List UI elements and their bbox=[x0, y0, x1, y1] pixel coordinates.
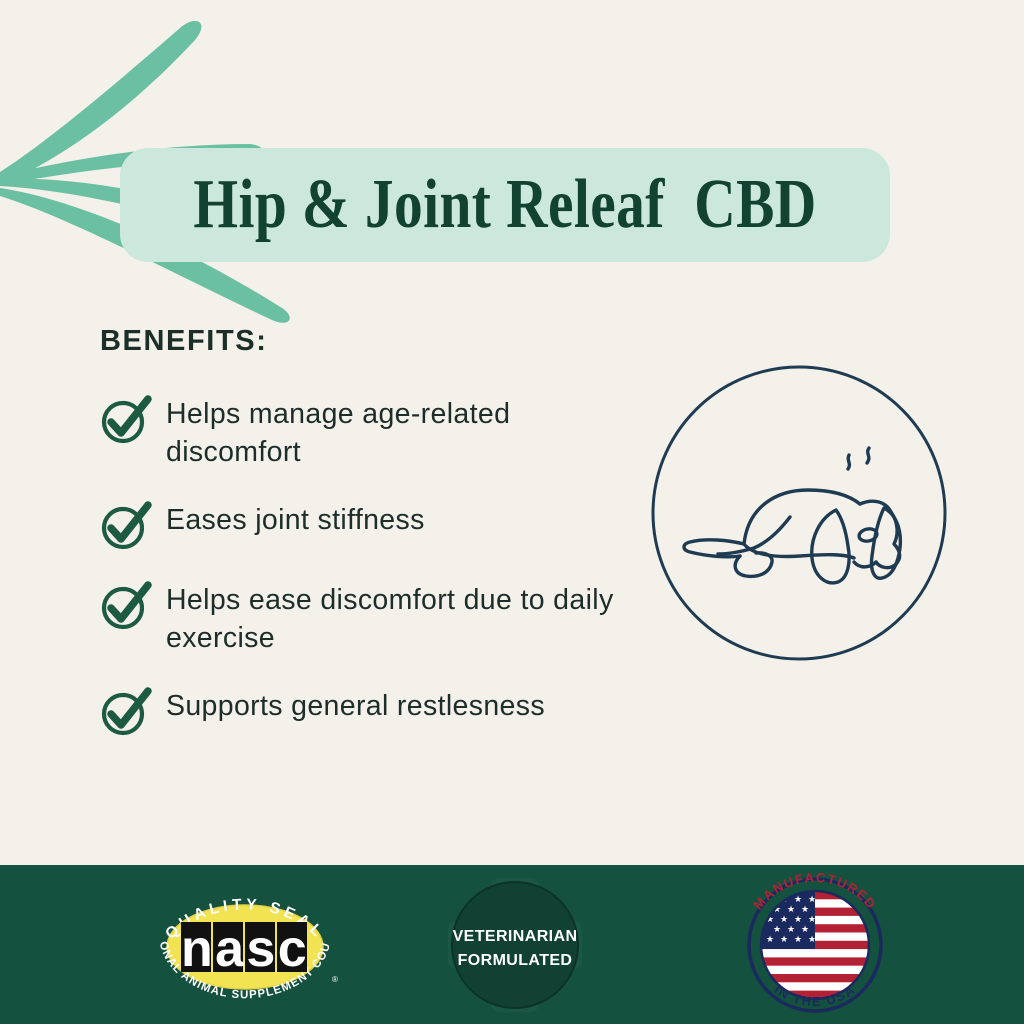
svg-text:★: ★ bbox=[808, 894, 816, 904]
list-item: Helps manage age-related discomfort bbox=[98, 392, 638, 472]
svg-text:★: ★ bbox=[773, 924, 781, 934]
list-item: Helps ease discomfort due to daily exerc… bbox=[98, 578, 638, 658]
svg-text:★: ★ bbox=[787, 924, 795, 934]
svg-text:★: ★ bbox=[780, 914, 788, 924]
check-circle-icon bbox=[98, 394, 152, 446]
svg-text:★: ★ bbox=[766, 934, 774, 944]
vet-badge-line1: VETERINARIAN bbox=[453, 928, 578, 945]
benefits-list: Helps manage age-related discomfort Ease… bbox=[98, 392, 638, 764]
certification-footer: QUALITY SEAL NATIONAL ANIMAL SUPPLEMENT … bbox=[0, 865, 1024, 1024]
list-item-label: Helps manage age-related discomfort bbox=[166, 392, 638, 472]
check-circle-icon bbox=[98, 580, 152, 632]
svg-text:★: ★ bbox=[794, 934, 802, 944]
page-title: Hip & Joint Releaf CBD bbox=[193, 170, 816, 240]
list-item-label: Supports general restlesness bbox=[166, 684, 545, 726]
svg-text:nasc: nasc bbox=[181, 920, 309, 978]
veterinarian-formulated-icon: VETERINARIAN FORMULATED bbox=[425, 870, 605, 1020]
svg-text:★: ★ bbox=[801, 904, 809, 914]
svg-text:★: ★ bbox=[808, 934, 816, 944]
vet-badge-line2: FORMULATED bbox=[458, 952, 573, 969]
list-item-label: Helps ease discomfort due to daily exerc… bbox=[166, 578, 638, 658]
product-benefits-poster: Hip & Joint Releaf CBD BENEFITS: Helps m… bbox=[0, 0, 1024, 1024]
nasc-registered-mark: ® bbox=[332, 975, 338, 984]
list-item: Eases joint stiffness bbox=[98, 498, 638, 552]
benefits-heading: BENEFITS: bbox=[100, 325, 267, 358]
svg-text:★: ★ bbox=[780, 934, 788, 944]
nasc-logo-icon: QUALITY SEAL NATIONAL ANIMAL SUPPLEMENT … bbox=[140, 870, 350, 1020]
check-circle-icon bbox=[98, 500, 152, 552]
svg-text:★: ★ bbox=[801, 924, 809, 934]
svg-text:★: ★ bbox=[794, 914, 802, 924]
resting-dog-illustration bbox=[648, 362, 950, 664]
nasc-quality-seal-badge: QUALITY SEAL NATIONAL ANIMAL SUPPLEMENT … bbox=[140, 865, 350, 1024]
check-circle-icon bbox=[98, 686, 152, 738]
usa-flag-badge-icon: ★★★★ ★★★ ★★★★ ★★★ ★★★★ MANUFACTURED IN T… bbox=[720, 870, 910, 1020]
svg-text:★: ★ bbox=[787, 904, 795, 914]
title-banner: Hip & Joint Releaf CBD bbox=[120, 148, 890, 262]
nasc-wordmark: nasc bbox=[181, 920, 309, 978]
list-item: Supports general restlesness bbox=[98, 684, 638, 738]
veterinarian-formulated-badge: VETERINARIAN FORMULATED bbox=[425, 865, 605, 1024]
svg-text:★: ★ bbox=[808, 914, 816, 924]
manufactured-in-usa-badge: ★★★★ ★★★ ★★★★ ★★★ ★★★★ MANUFACTURED IN T… bbox=[720, 865, 910, 1024]
list-item-label: Eases joint stiffness bbox=[166, 498, 425, 540]
